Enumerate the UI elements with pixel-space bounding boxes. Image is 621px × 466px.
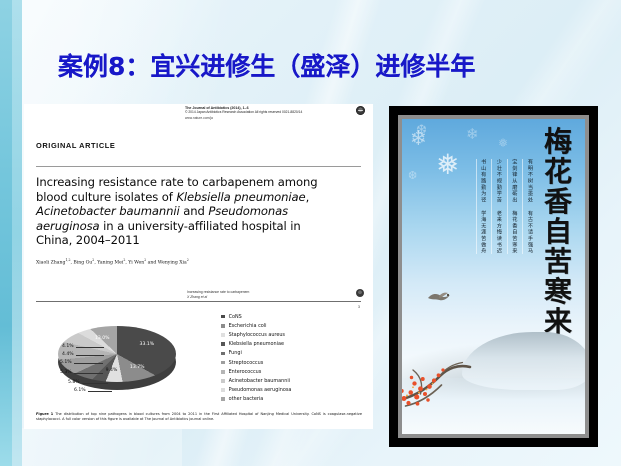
pie-label-leader-line: [76, 355, 104, 356]
pie-slice-value: 4.4%: [62, 352, 74, 357]
legend-item: Streptococcus: [221, 358, 361, 367]
legend-label: Streptococcus: [229, 360, 264, 366]
legend-item: Fungi: [221, 349, 361, 358]
legend-label: CoNS: [229, 314, 242, 320]
figure-caption-text: The distribution of top nine pathogens i…: [36, 412, 362, 421]
calligraphy-character: 梅: [537, 127, 579, 157]
nature-publishing-logo-icon-2: [356, 289, 364, 297]
slide-title-line-1: 案例8：宜兴进修生（盛泽）进修半年: [58, 50, 598, 84]
legend-label: Pseudomonas aeruginosa: [229, 387, 292, 393]
legend-swatch-icon: [221, 352, 225, 356]
figure-caption: Figure 1 The distribution of top nine pa…: [36, 412, 362, 422]
journal-paper-image: The Journal of Antibiotics (2014), 1–6 ©…: [24, 104, 373, 429]
poem-column: 书山有路勤为径 学海无涯苦做舟: [476, 159, 487, 254]
snowflake-icon: ❆: [416, 123, 427, 136]
legend-label: Klebsiella pneumoniae: [229, 341, 284, 347]
bottom-left-panel: [22, 428, 182, 466]
pie-slice-value: 13.7%: [130, 365, 145, 370]
calligraphy-character: 苦: [537, 247, 579, 277]
masthead-line-2: © 2014 Japan Antibiotics Research Associ…: [185, 110, 350, 114]
legend-swatch-icon: [221, 379, 225, 383]
calligraphy-character: 香: [537, 187, 579, 217]
pie-slice-value: 33.1%: [140, 342, 155, 347]
snowflake-icon: ❆: [408, 171, 417, 182]
legend-swatch-icon: [221, 370, 225, 374]
legend-swatch-icon: [221, 315, 225, 319]
figure-1-chart: 33.1%13.7%9.4%13.0%6.1%5.8%5.3%5.1%4.4%4…: [36, 310, 361, 408]
running-head-rule: [36, 301, 361, 302]
pie-label-leader-line: [88, 391, 112, 392]
legend-swatch-icon: [221, 333, 225, 337]
legend-swatch-icon: [221, 361, 225, 365]
left-accent-bar: [0, 0, 22, 466]
chart-legend: CoNSEscherichia coliStaphylococcus aureu…: [221, 312, 361, 404]
pie-label-leader-line: [74, 373, 103, 374]
pie-slice-value: 9.4%: [106, 368, 118, 373]
legend-label: Escherichia coli: [229, 323, 267, 329]
snowflake-icon: ❄: [466, 127, 479, 142]
legend-item: Klebsiella pneumoniae: [221, 340, 361, 349]
pie-label-leader-line: [76, 347, 104, 348]
slide-canvas: 案例8：宜兴进修生（盛泽）进修半年 发表一篇2分的SCI论文 The Journ…: [0, 0, 621, 466]
poem-column: 宝剑锋从磨砺出 梅花香自苦寒来: [507, 159, 518, 254]
running-head-line-2: X Zhang et al: [187, 295, 347, 300]
legend-label: Staphylococcus aureus: [229, 332, 285, 338]
snowflake-icon: ❅: [436, 151, 459, 179]
poem-column: 少壮不规勤学苦 老来方悔读书迟: [491, 159, 502, 254]
nature-publishing-logo-icon: [356, 106, 365, 115]
pie-slice-value: 5.1%: [60, 360, 72, 365]
title-divider-rule: [36, 166, 361, 167]
running-head: Increasing resistance rate to carbapenem…: [187, 290, 347, 299]
bird-illustration: [426, 290, 452, 306]
figure-caption-label: Figure 1: [36, 412, 53, 416]
legend-label: other bacteria: [229, 396, 264, 402]
legend-item: Staphylococcus aureus: [221, 330, 361, 339]
legend-item: CoNS: [221, 312, 361, 321]
calligraphy-poster-image: ❄ ❅ ❆ ❄ ❅ ❆ 梅花香自苦寒来 有明不树当墨处 有古不请手强马宝剑锋从磨…: [389, 106, 598, 447]
paper-title: Increasing resistance rate to carbapenem…: [36, 175, 336, 248]
pie-chart: 33.1%13.7%9.4%13.0%6.1%5.8%5.3%5.1%4.4%4…: [58, 322, 178, 396]
pie-label-leader-line: [82, 383, 108, 384]
calligraphy-character: 自: [537, 217, 579, 247]
pie-slice-value: 6.1%: [74, 388, 86, 393]
page-number: 3: [358, 305, 360, 309]
snowflake-icon: ❅: [498, 137, 508, 149]
poster-artwork: ❄ ❅ ❆ ❄ ❅ ❆ 梅花香自苦寒来 有明不树当墨处 有古不请手强马宝剑锋从磨…: [402, 119, 585, 434]
calligraphy-character: 寒: [537, 277, 579, 307]
pie-label-leader-line: [74, 363, 103, 364]
legend-swatch-icon: [221, 342, 225, 346]
legend-item: Escherichia coli: [221, 321, 361, 330]
plum-blossom-branch-illustration: [402, 334, 518, 412]
legend-item: Acinetobacter baumannii: [221, 376, 361, 385]
calligraphy-character: 花: [537, 157, 579, 187]
legend-item: Enterococcus: [221, 367, 361, 376]
pie-slice-value: 5.8%: [68, 380, 80, 385]
legend-item: other bacteria: [221, 395, 361, 404]
poem-column: 有明不树当墨处 有古不请手强马: [522, 159, 533, 254]
pie-slice-value: 5.3%: [60, 370, 72, 375]
legend-swatch-icon: [221, 388, 225, 392]
legend-swatch-icon: [221, 324, 225, 328]
pie-slice-value: 4.1%: [62, 344, 74, 349]
masthead-line-3: www.nature.com/ja: [185, 116, 350, 120]
legend-label: Acinetobacter baumannii: [229, 378, 291, 384]
legend-swatch-icon: [221, 397, 225, 401]
poster-calligraphy: 梅花香自苦寒来: [537, 127, 579, 337]
poster-poem-columns: 有明不树当墨处 有古不请手强马宝剑锋从磨砺出 梅花香自苦寒来少壮不规勤学苦 老来…: [471, 159, 533, 279]
paper-authors: Xiaoli Zhang1,2, Bing Gu2, Yaning Mei2, …: [36, 257, 356, 267]
legend-item: Pseudomonas aeruginosa: [221, 386, 361, 395]
section-label: ORIGINAL ARTICLE: [36, 141, 115, 150]
journal-masthead: The Journal of Antibiotics (2014), 1–6 ©…: [185, 106, 350, 121]
pie-slice-value: 13.0%: [95, 336, 110, 341]
paper-header-section: The Journal of Antibiotics (2014), 1–6 ©…: [24, 104, 373, 282]
legend-label: Fungi: [229, 350, 242, 356]
legend-label: Enterococcus: [229, 369, 262, 375]
left-accent-bar-highlight: [12, 0, 22, 466]
poster-mat: ❄ ❅ ❆ ❄ ❅ ❆ 梅花香自苦寒来 有明不树当墨处 有古不请手强马宝剑锋从磨…: [398, 115, 589, 438]
